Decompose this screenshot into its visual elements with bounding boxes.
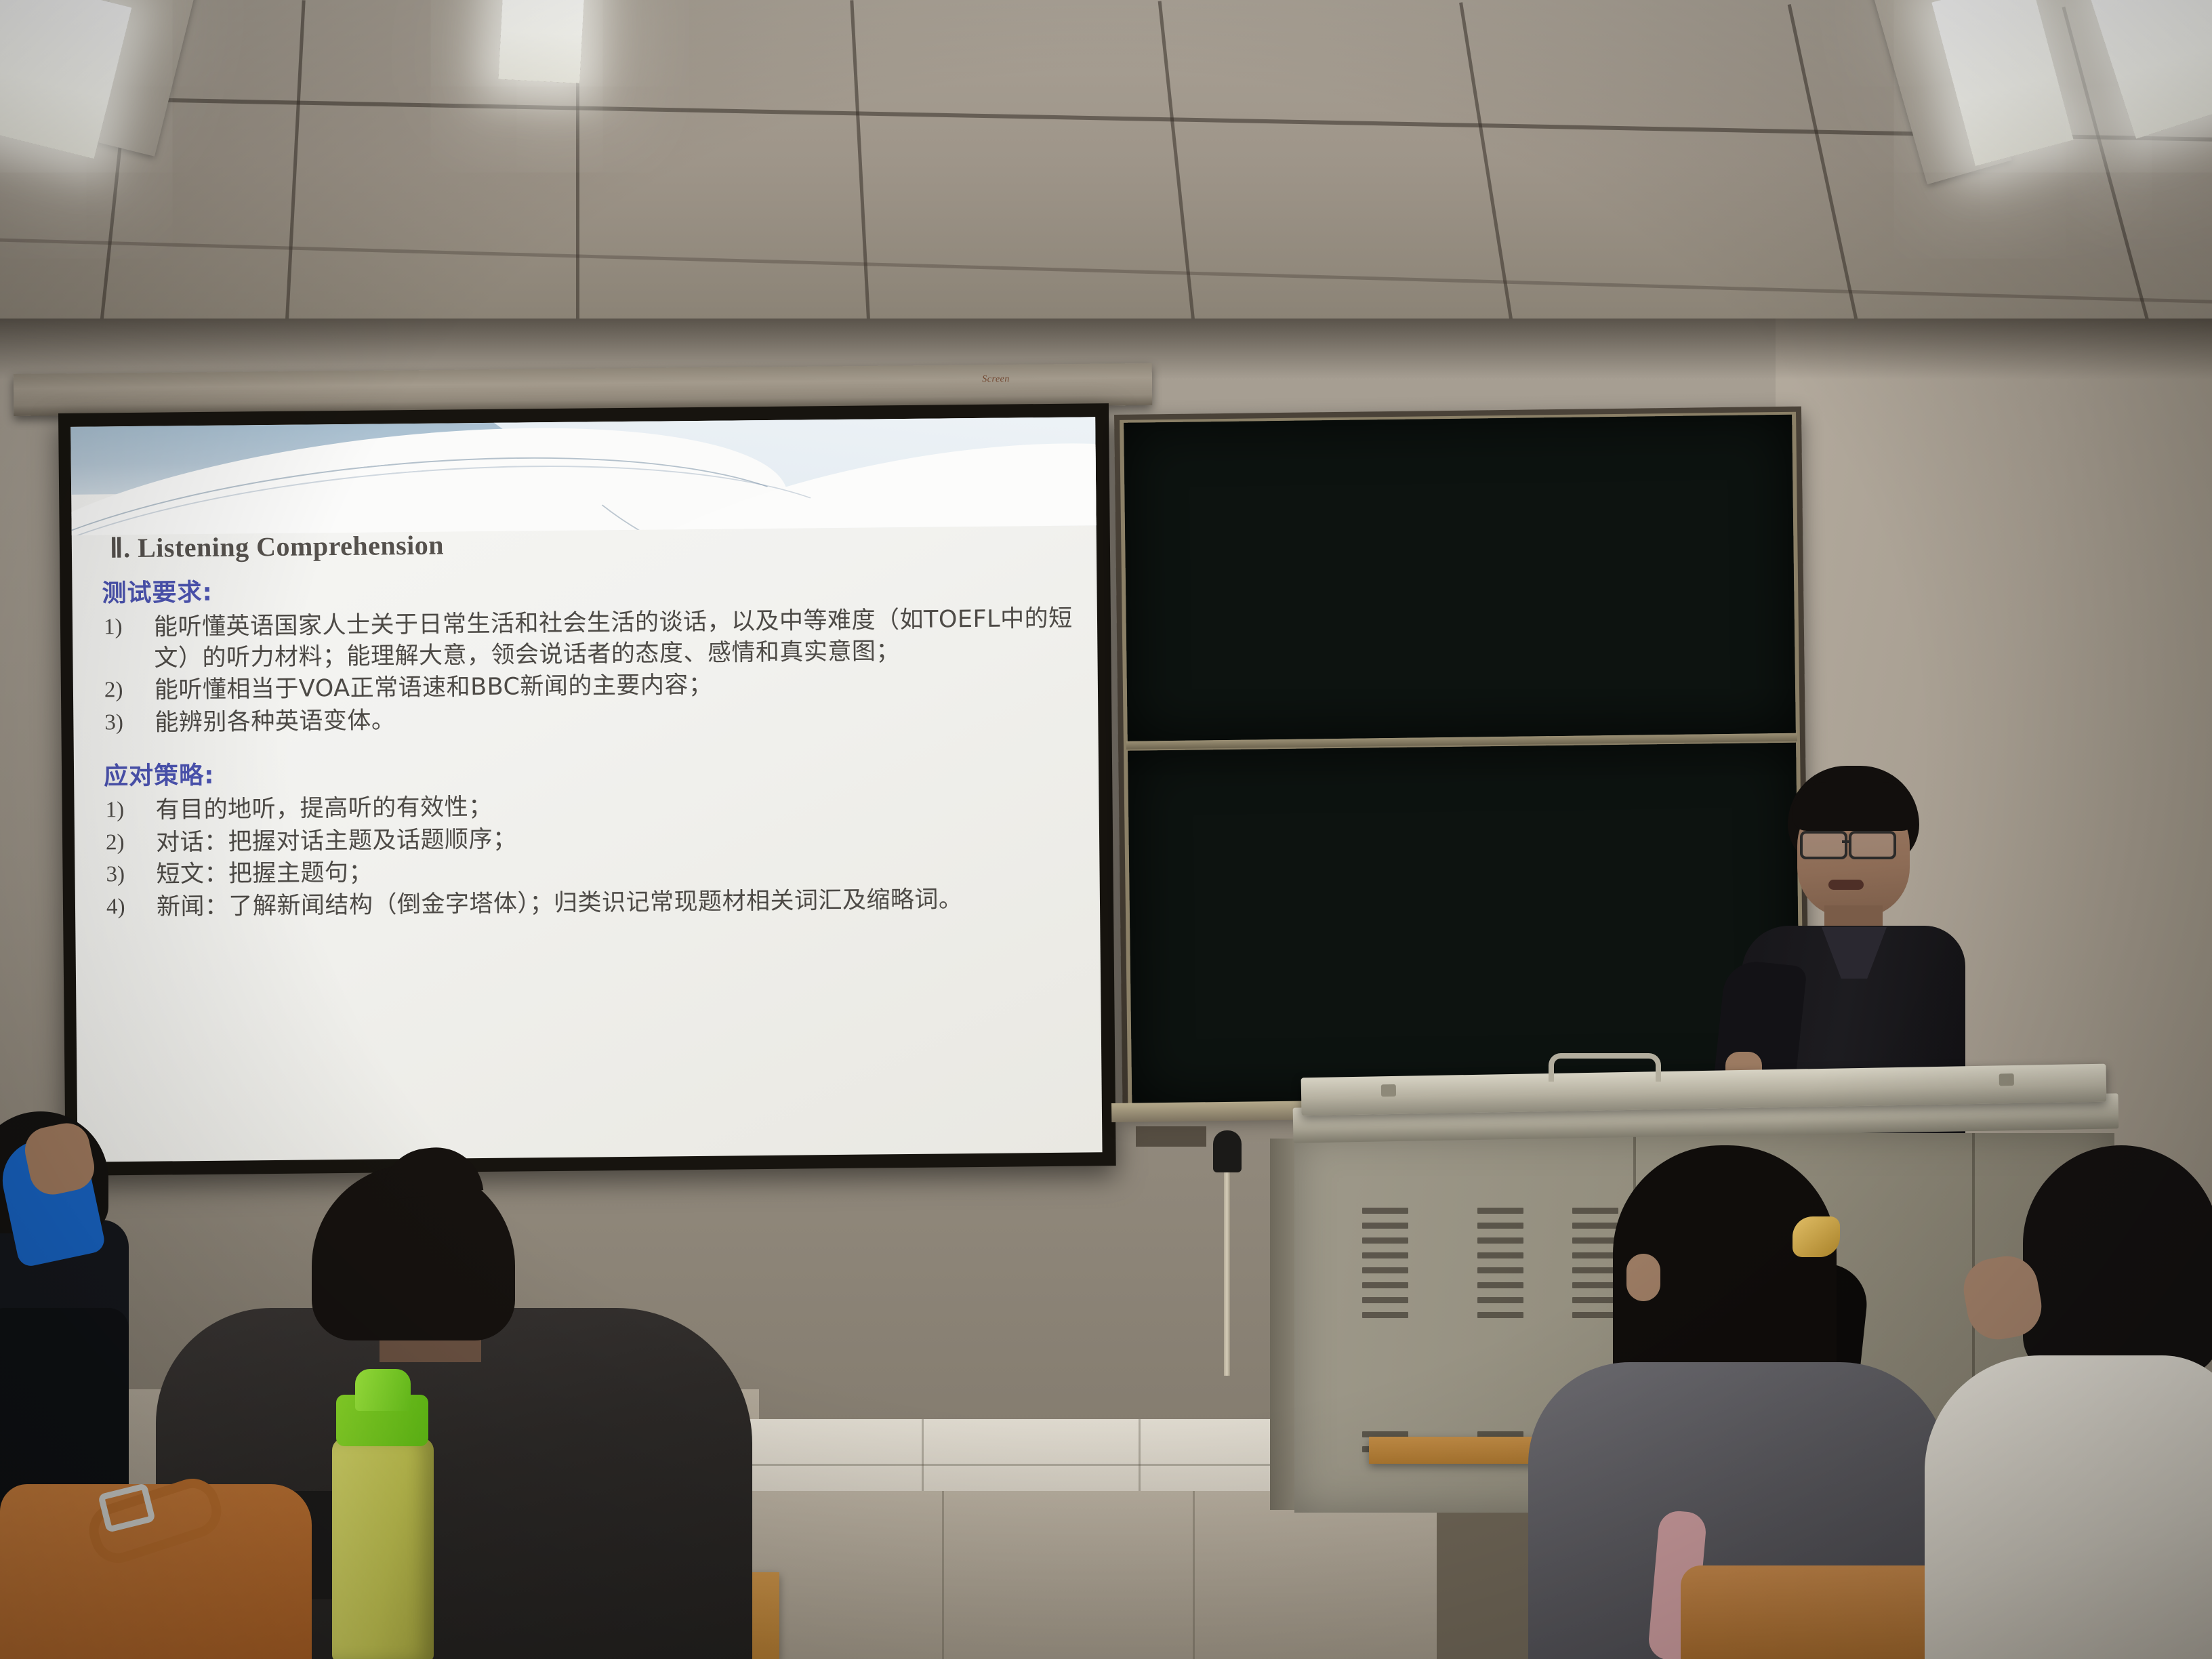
glasses-icon [1849, 831, 1896, 859]
student-right-white-head [2023, 1145, 2212, 1376]
screen-brand-logo: Screen [982, 374, 1010, 385]
vent-slots [1572, 1208, 1618, 1327]
blackboard-upper-panel [1124, 415, 1796, 741]
list-item-number: 2) [98, 827, 156, 857]
lecturer-mouth [1828, 880, 1864, 890]
student-left-blue-shoulder [0, 1308, 129, 1511]
list-item-number: 1) [97, 796, 155, 825]
glasses-bridge [1842, 840, 1850, 843]
slide-surface: Ⅱ. Listening Comprehension 测试要求: 1) 能听懂英… [70, 417, 1102, 1162]
ceiling-light-4 [2086, 0, 2212, 139]
wall-sign [1136, 1126, 1206, 1147]
pull-cord[interactable] [1224, 1152, 1230, 1376]
section-heading-strategies: 应对策略: [104, 747, 1081, 792]
blackboard-lower-panel [1128, 743, 1800, 1105]
lectern-handle[interactable] [1549, 1053, 1661, 1082]
section-heading-requirements: 测试要求: [102, 565, 1079, 609]
list-item-number: 3) [98, 860, 156, 890]
student-right-white-torso [1925, 1355, 2212, 1659]
water-bottle-lid [355, 1369, 411, 1411]
classroom-photo: Screen Ⅱ. Listening Comprehension 测试要求: … [0, 0, 2212, 1659]
list-item-number: 2) [96, 676, 155, 705]
pull-cord-handle[interactable] [1213, 1130, 1242, 1172]
vent-slots [1477, 1208, 1523, 1327]
list-item-text: 能听懂英语国家人士关于日常生活和社会生活的谈话，以及中等难度（如TOEFL中的短… [154, 604, 1080, 674]
glasses-icon [1800, 831, 1847, 859]
list-item-number: 3) [96, 708, 155, 737]
ceiling-light-2 [498, 0, 586, 83]
student-right-grey-ear [1626, 1254, 1660, 1301]
slide-header-graphic [70, 417, 1096, 535]
list-item: 1) 能听懂英语国家人士关于日常生活和社会生活的谈话，以及中等难度（如TOEFL… [96, 604, 1080, 675]
hair-clip-icon [1793, 1216, 1840, 1257]
blackboard [1114, 407, 1810, 1113]
projection-screen: Ⅱ. Listening Comprehension 测试要求: 1) 能听懂英… [58, 403, 1116, 1176]
lecturer-fringe [1792, 782, 1917, 831]
list-item-number: 4) [98, 892, 157, 922]
list-item-number: 1) [96, 613, 154, 642]
requirements-list: 1) 能听懂英语国家人士关于日常生活和社会生活的谈话，以及中等难度（如TOEFL… [96, 604, 1081, 739]
slide-title: Ⅱ. Listening Comprehension [110, 523, 1079, 565]
blackboard-frame [1120, 412, 1804, 1107]
vent-slots [1362, 1208, 1408, 1327]
water-bottle-body [332, 1438, 434, 1659]
slide-content: Ⅱ. Listening Comprehension 测试要求: 1) 能听懂英… [72, 518, 1103, 1162]
strategies-list: 1) 有目的地听，提高听的有效性； 2) 对话：把握对话主题及话题顺序； 3) … [97, 787, 1082, 924]
